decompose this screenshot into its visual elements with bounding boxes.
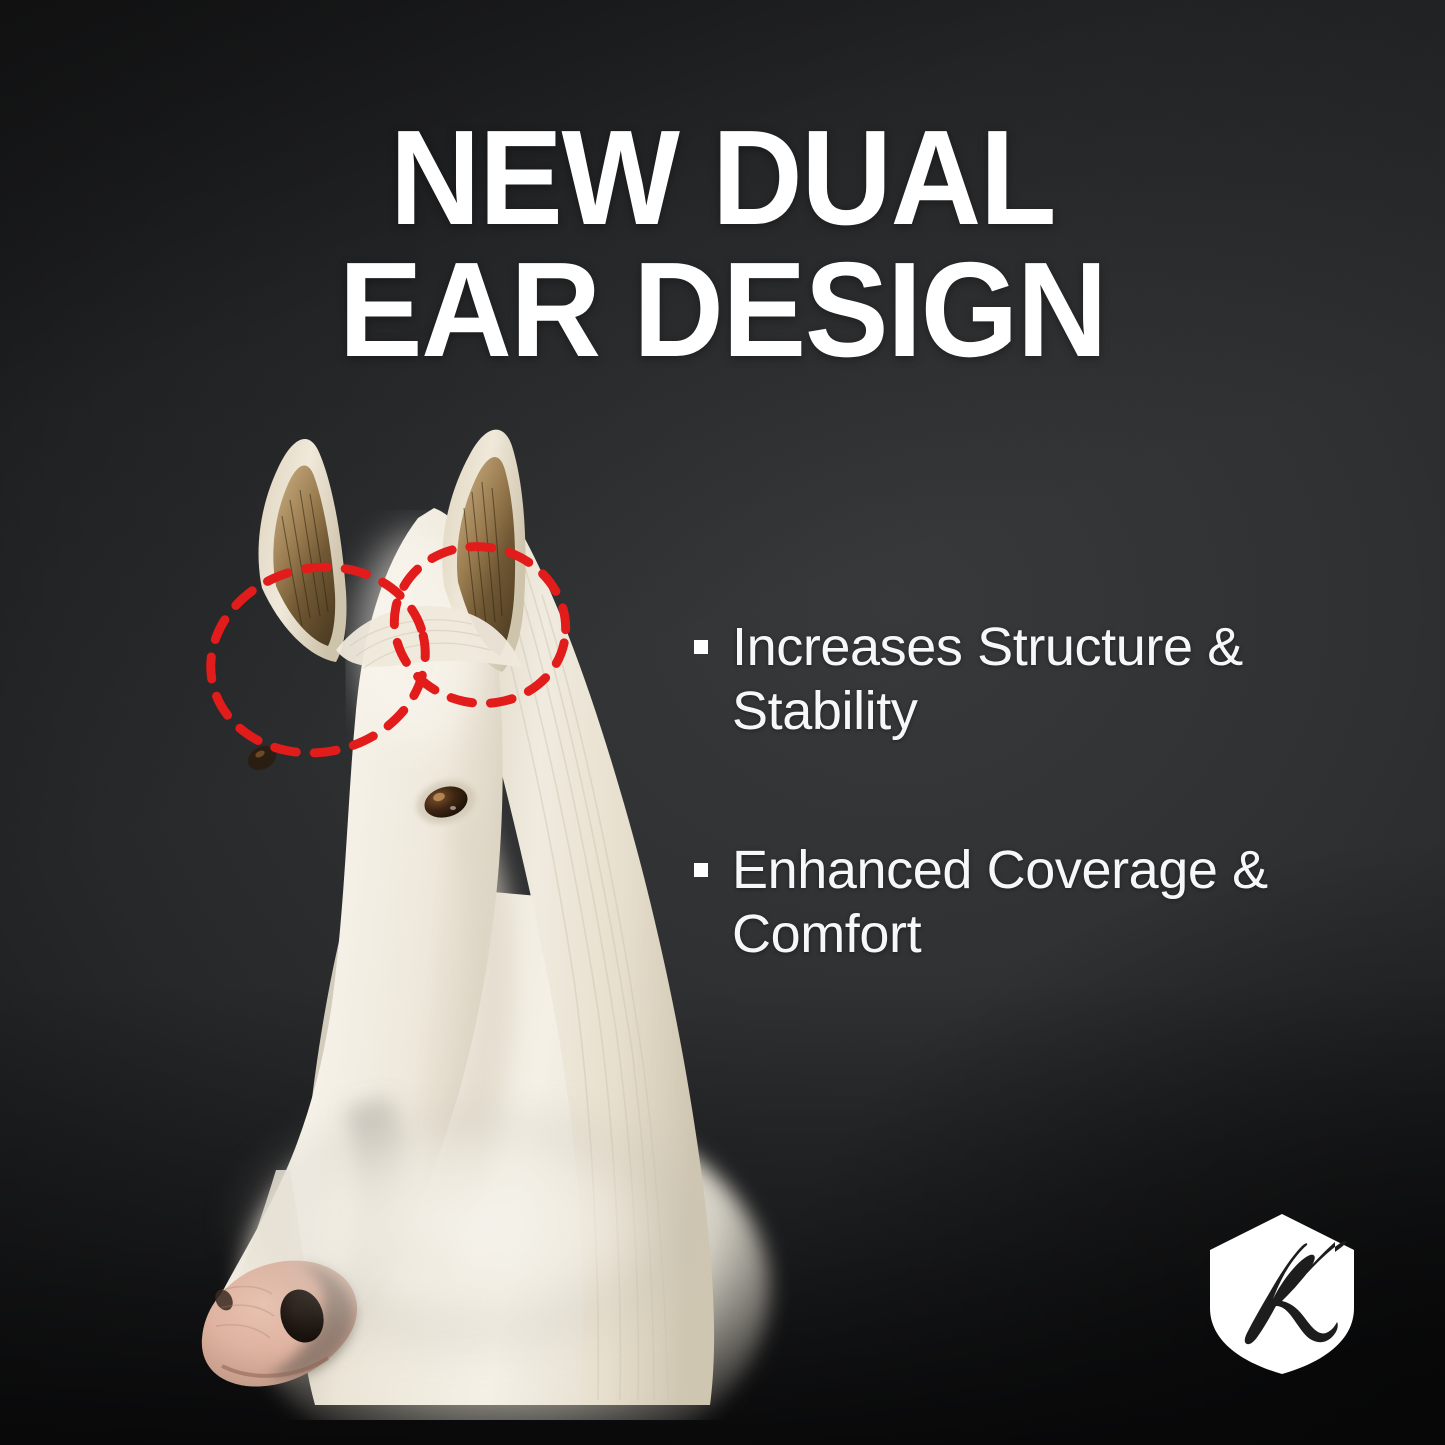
- square-bullet-icon: [694, 863, 708, 877]
- feature-list: Increases Structure & Stability Enhanced…: [694, 616, 1374, 967]
- headline-line-1: NEW DUAL: [51, 112, 1395, 244]
- feature-text: Increases Structure & Stability: [732, 616, 1374, 743]
- brand-logo: [1206, 1212, 1358, 1376]
- shield-k-logo-icon: [1206, 1212, 1358, 1376]
- banner-canvas: NEW DUAL EAR DESIGN Increases Structure …: [0, 0, 1445, 1445]
- feature-text: Enhanced Coverage & Comfort: [732, 839, 1374, 966]
- headline-line-2: EAR DESIGN: [51, 244, 1395, 376]
- list-item: Increases Structure & Stability: [694, 616, 1374, 743]
- square-bullet-icon: [694, 640, 708, 654]
- list-item: Enhanced Coverage & Comfort: [694, 839, 1374, 966]
- page-title: NEW DUAL EAR DESIGN: [51, 112, 1395, 377]
